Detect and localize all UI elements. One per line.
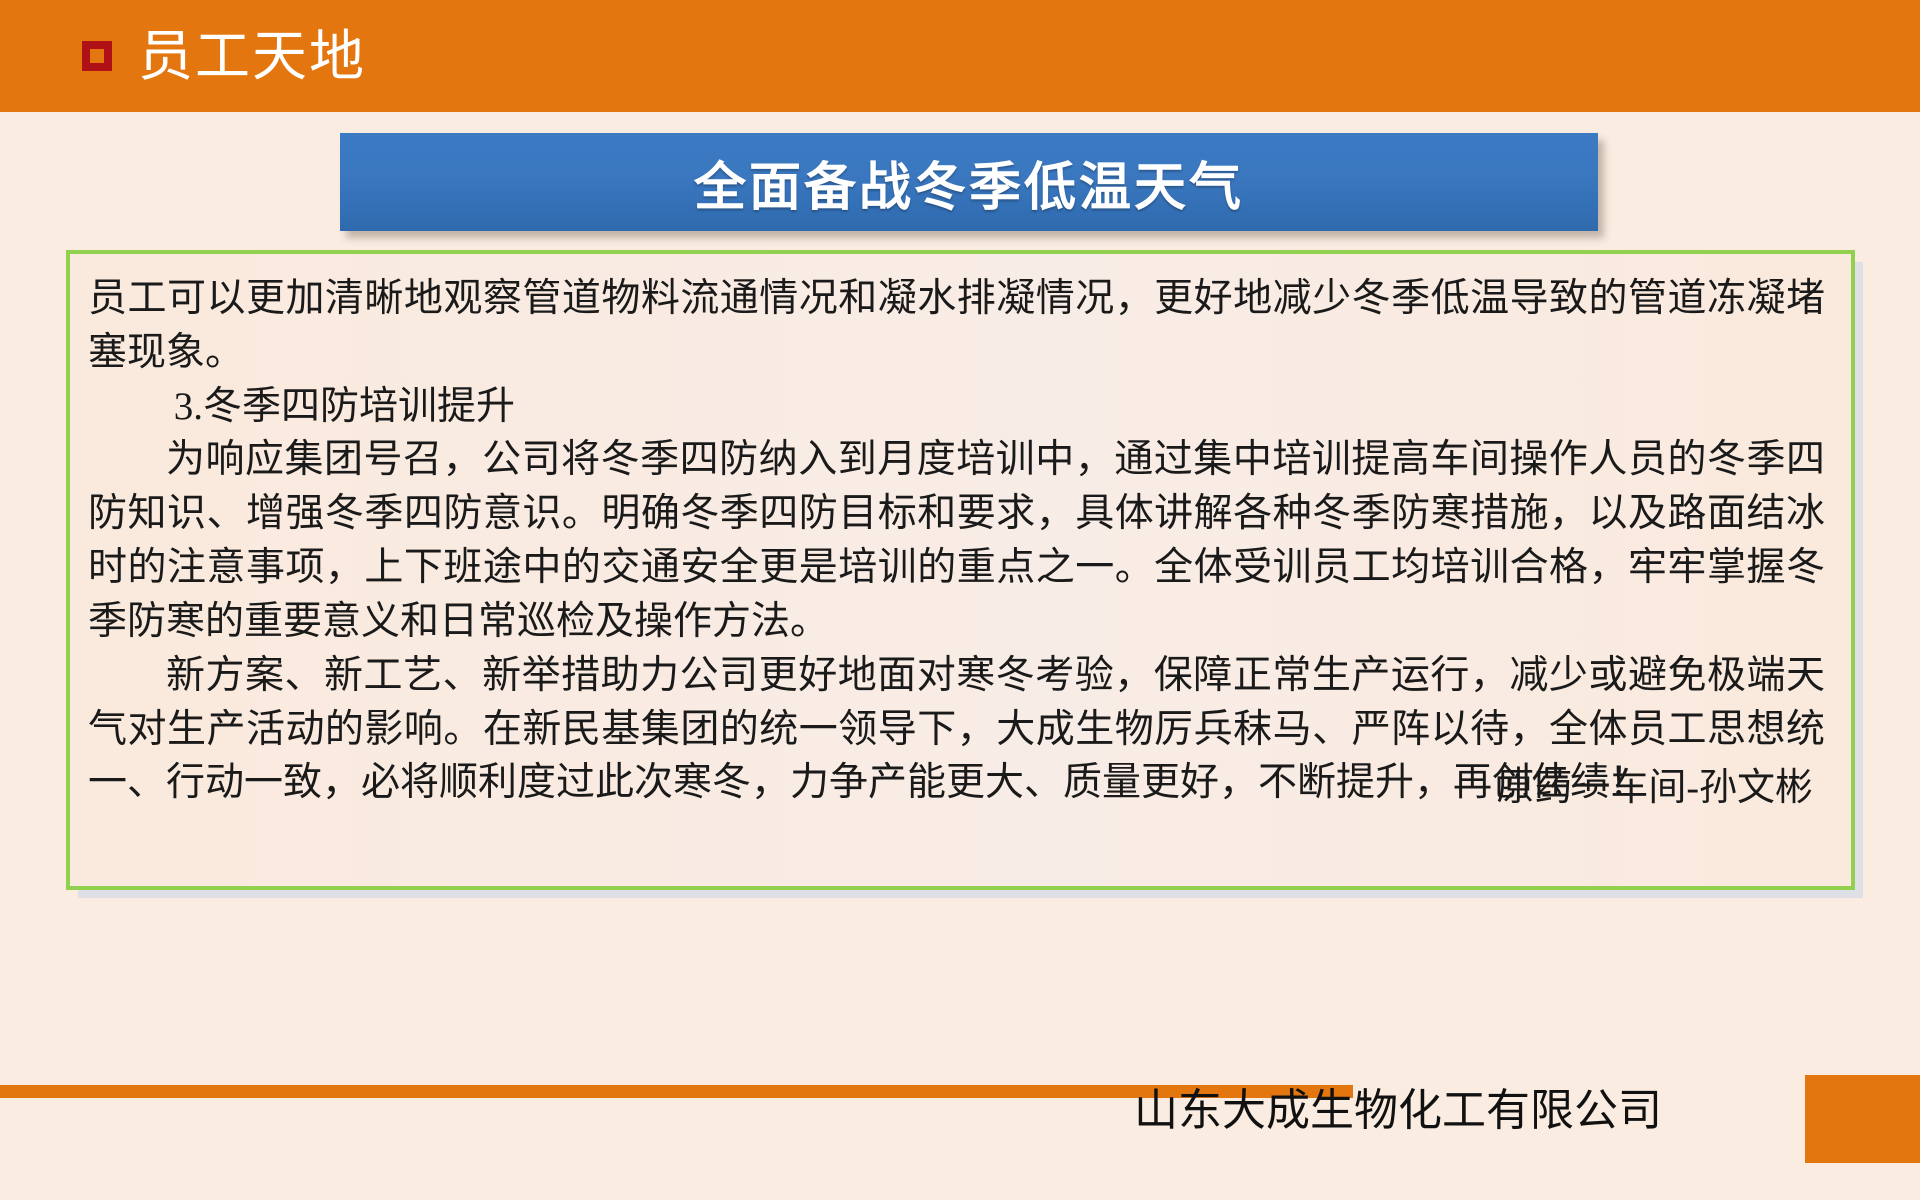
footer-company-name: 山东大成生物化工有限公司 [1134,1074,1662,1138]
page-header: 员工天地 [0,0,1920,112]
article-content-box: 员工可以更加清晰地观察管道物料流通情况和凝水排凝情况，更好地减少冬季低温导致的管… [66,250,1855,890]
banner-fill: 全面备战冬季低温天气 [340,133,1598,231]
paragraph-training: 为响应集团号召，公司将冬季四防纳入到月度培训中，通过集中培训提高车间操作人员的冬… [88,433,1825,648]
banner-title-text: 全面备战冬季低温天气 [694,145,1244,220]
paragraph-intro: 员工可以更加清晰地观察管道物料流通情况和凝水排凝情况，更好地减少冬季低温导致的管… [88,272,1825,380]
paragraph-section-heading: 3.冬季四防培训提升 [88,380,1825,434]
page-title: 员工天地 [138,29,366,84]
footer-accent-block [1805,1075,1920,1163]
square-bullet-icon [82,41,112,71]
article-title-banner: 全面备战冬季低温天气 [340,133,1598,231]
